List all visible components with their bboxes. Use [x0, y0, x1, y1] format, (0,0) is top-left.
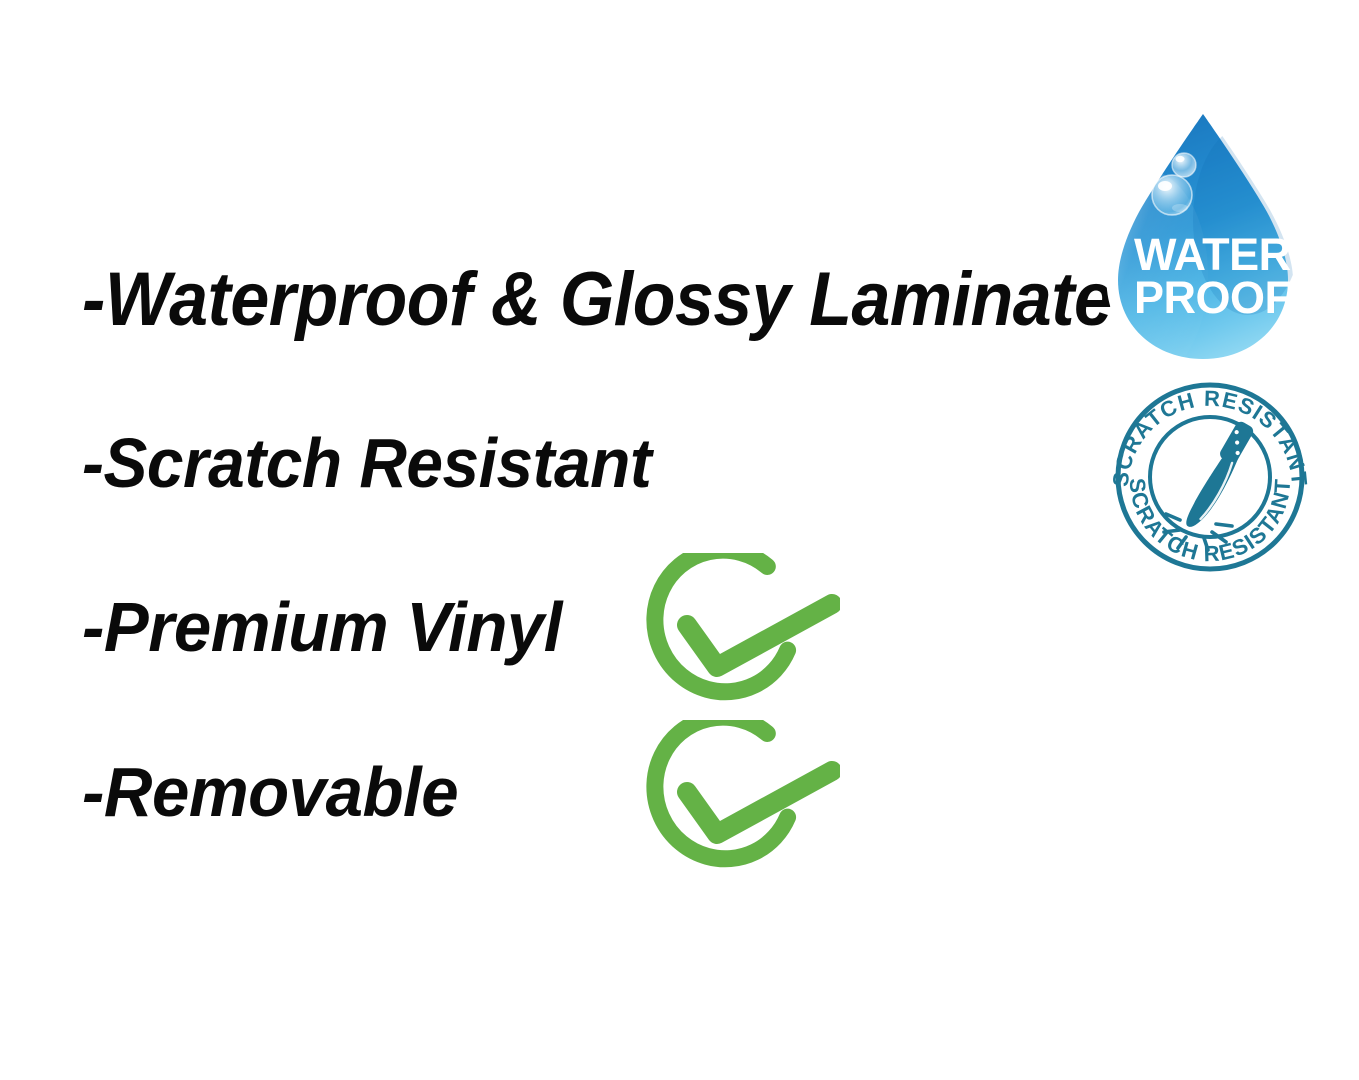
- feature-label: Waterproof & Glossy Laminated: [105, 257, 1155, 342]
- feature-bullet-dash: -: [82, 428, 103, 498]
- feature-list: -Waterproof & Glossy Laminated -Scratch …: [0, 0, 1100, 1080]
- waterproof-badge: WATER PROOF: [1098, 100, 1308, 372]
- feature-label: Removable: [104, 753, 458, 831]
- waterproof-line2: PROOF: [1134, 272, 1292, 323]
- feature-item-scratch-resistant: -Scratch Resistant: [82, 428, 651, 498]
- feature-item-premium-vinyl: -Premium Vinyl: [82, 592, 562, 662]
- feature-item-removable: -Removable: [82, 757, 458, 827]
- check-circle-icon: [640, 720, 840, 880]
- check-circle-icon: [640, 553, 840, 713]
- feature-label: Scratch Resistant: [103, 424, 651, 502]
- scratch-resistant-badge: SCRATCH RESISTANT SCRATCH RESISTANT: [1100, 380, 1320, 575]
- feature-item-waterproof: -Waterproof & Glossy Laminated: [82, 262, 1155, 338]
- feature-label: Premium Vinyl: [104, 588, 562, 666]
- bubble-small: [1172, 153, 1196, 177]
- feature-bullet-dash: -: [82, 757, 104, 827]
- promo-feature-graphic: -Waterproof & Glossy Laminated -Scratch …: [0, 0, 1359, 1080]
- stamp-top-text: SCRATCH RESISTANT: [1108, 386, 1312, 488]
- feature-bullet-dash: -: [82, 262, 105, 338]
- knife-icon: [1185, 413, 1256, 536]
- bubble-large: [1152, 175, 1192, 215]
- feature-bullet-dash: -: [82, 592, 104, 662]
